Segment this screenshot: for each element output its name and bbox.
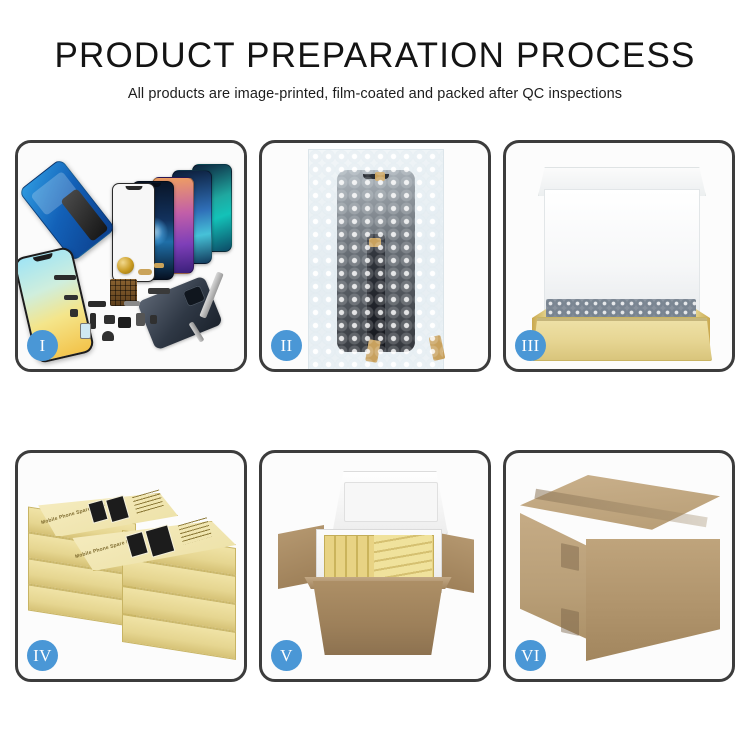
step-numeral-badge: I [27, 330, 58, 361]
process-step-5[interactable]: V [259, 450, 491, 682]
page-subtitle: All products are image-printed, film-coa… [0, 86, 750, 102]
step-numeral-badge: V [271, 640, 302, 671]
process-steps-grid: I II [15, 140, 735, 682]
step-numeral-badge: II [271, 330, 302, 361]
process-step-1[interactable]: I [15, 140, 247, 372]
process-step-4[interactable]: Mobile Phone Spare Parts Mobile Phone Sp… [15, 450, 247, 682]
header: PRODUCT PREPARATION PROCESS All products… [0, 38, 750, 102]
process-step-3[interactable]: III [503, 140, 735, 372]
process-step-2[interactable]: II [259, 140, 491, 372]
product-preparation-infographic: PRODUCT PREPARATION PROCESS All products… [0, 0, 750, 750]
page-title: PRODUCT PREPARATION PROCESS [0, 38, 750, 75]
step-numeral-badge: IV [27, 640, 58, 671]
process-step-6[interactable]: VI [503, 450, 735, 682]
step-numeral-badge: VI [515, 640, 546, 671]
step-numeral-badge: III [515, 330, 546, 361]
